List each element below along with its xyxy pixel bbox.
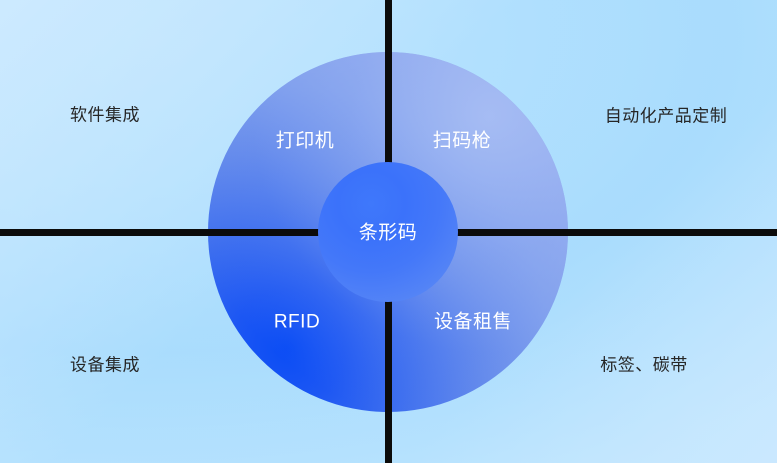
quadrant-label-software-integration: 软件集成 xyxy=(70,107,140,124)
quadrant-label-automation-customization: 自动化产品定制 xyxy=(605,108,728,125)
ring-label-rfid: RFID xyxy=(274,313,320,332)
quadrant-label-device-integration: 设备集成 xyxy=(70,357,140,374)
core-label-barcode: 条形码 xyxy=(359,224,418,243)
quadrant-label-labels-ribbons: 标签、碳带 xyxy=(600,357,688,374)
ring-label-scanner: 扫码枪 xyxy=(433,132,492,151)
ring-label-printer: 打印机 xyxy=(276,132,335,151)
ring-label-equipment-rental: 设备租售 xyxy=(434,313,512,332)
diagram-canvas: 条形码 打印机 扫码枪 RFID 设备租售 软件集成 自动化产品定制 设备集成 … xyxy=(0,0,777,463)
